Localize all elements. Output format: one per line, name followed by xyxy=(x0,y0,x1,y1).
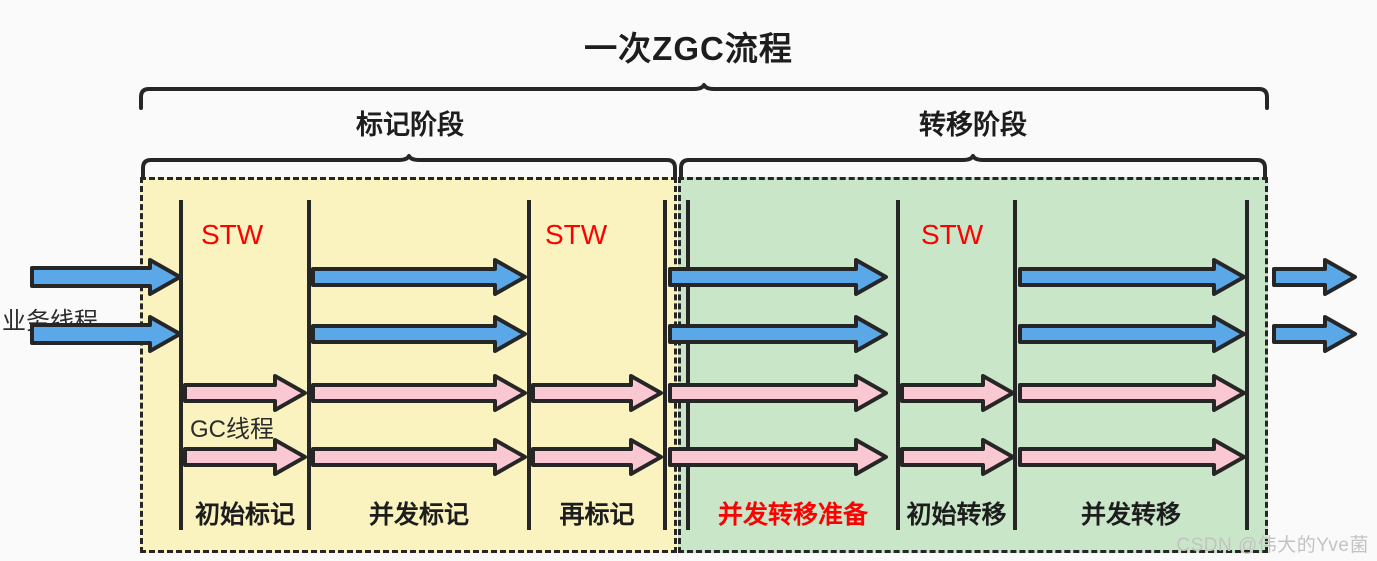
move-phase-brace xyxy=(678,155,1268,179)
arrow-business-1-concurrent-relocate xyxy=(1018,258,1246,296)
phase-title-move: 转移阶段 xyxy=(678,112,1268,139)
arrow-business-2-concurrent-relocate xyxy=(1018,315,1246,353)
arrow-gc-2-remark xyxy=(531,438,663,476)
arrow-gc-2-initial-relocate xyxy=(900,438,1015,476)
entry-arrow-business-1 xyxy=(30,258,182,296)
mark-phase-brace xyxy=(140,155,678,179)
arrow-gc-1-concurrent-relocate-prep xyxy=(668,374,888,412)
stage-label-initial-mark: 初始标记 xyxy=(183,503,307,528)
arrow-business-2-concurrent-mark xyxy=(311,315,527,353)
exit-arrow-business-1 xyxy=(1272,258,1357,296)
outer-brace xyxy=(138,84,1270,110)
stw-label-initial-relocate: STW xyxy=(921,221,983,249)
watermark: CSDN @伟大的Yve菌 xyxy=(1176,530,1369,557)
zgc-flow-diagram: 一次ZGC流程 标记阶段 转移阶段 STW STW STW 业务线程 GC线程 xyxy=(0,0,1377,561)
divider-mark-1 xyxy=(179,200,183,530)
divider-move-3 xyxy=(1013,200,1017,530)
arrow-gc-2-concurrent-relocate-prep xyxy=(668,438,888,476)
divider-mark-4 xyxy=(663,200,667,530)
arrow-gc-2-concurrent-mark xyxy=(311,438,527,476)
arrow-gc-1-concurrent-relocate xyxy=(1018,374,1246,412)
arrow-business-1-concurrent-relocate-prep xyxy=(668,258,888,296)
arrow-business-1-concurrent-mark xyxy=(311,258,527,296)
stage-label-concurrent-mark: 并发标记 xyxy=(311,503,527,528)
entry-arrow-business-2 xyxy=(30,315,182,353)
arrow-gc-2-initial-mark xyxy=(183,438,307,476)
stw-label-initial-mark: STW xyxy=(201,221,263,249)
divider-move-4 xyxy=(1245,200,1249,530)
stw-label-remark: STW xyxy=(545,221,607,249)
arrow-business-2-concurrent-relocate-prep xyxy=(668,315,888,353)
stage-label-concurrent-relocate-prep: 并发转移准备 xyxy=(690,503,896,528)
arrow-gc-2-concurrent-relocate xyxy=(1018,438,1246,476)
arrow-gc-1-initial-relocate xyxy=(900,374,1015,412)
page-title: 一次ZGC流程 xyxy=(0,32,1377,65)
stage-label-remark: 再标记 xyxy=(531,503,663,528)
stage-label-initial-relocate: 初始转移 xyxy=(900,503,1013,528)
divider-mark-2 xyxy=(307,200,311,530)
arrow-gc-1-remark xyxy=(531,374,663,412)
stage-label-concurrent-relocate: 并发转移 xyxy=(1017,503,1245,528)
arrow-gc-1-initial-mark xyxy=(183,374,307,412)
divider-move-2 xyxy=(896,200,900,530)
divider-mark-3 xyxy=(527,200,531,530)
divider-move-1 xyxy=(686,200,690,530)
phase-title-mark: 标记阶段 xyxy=(140,112,680,139)
arrow-gc-1-concurrent-mark xyxy=(311,374,527,412)
exit-arrow-business-2 xyxy=(1272,315,1357,353)
